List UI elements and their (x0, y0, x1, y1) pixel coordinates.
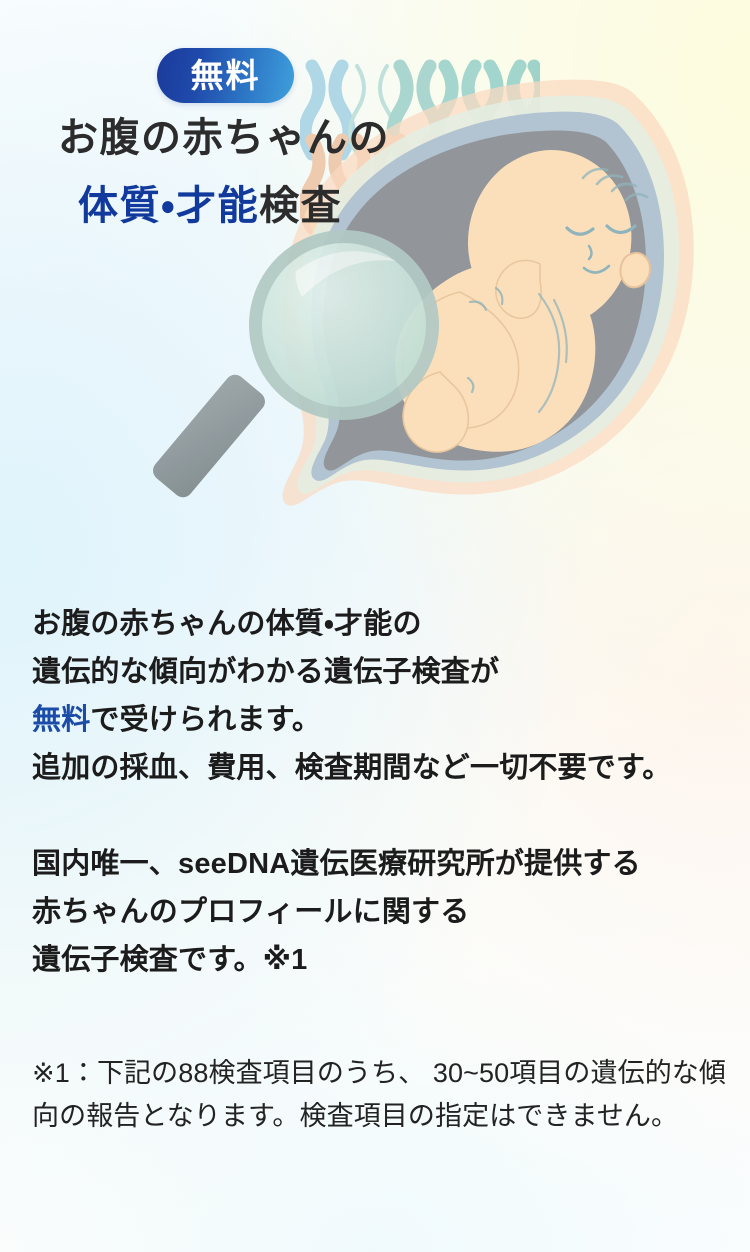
page-root: 無料 お腹の赤ちゃんの 体質・才能検査 お腹の赤ちゃんの体質・才能の 遺伝的な傾… (0, 0, 750, 1252)
page-title-line-1: お腹の赤ちゃんの (58, 118, 750, 158)
paragraph-1-line-1: お腹の赤ちゃんの体質・才能の (32, 600, 732, 648)
body-copy: お腹の赤ちゃんの体質・才能の 遺伝的な傾向がわかる遺伝子検査が 無料で受けられま… (32, 600, 732, 984)
page-title-line-2: 体質・才能検査 (78, 186, 750, 226)
page-title-suffix: 検査 (259, 184, 342, 228)
hero-illustration (0, 0, 750, 560)
page-title: お腹の赤ちゃんの 体質・才能検査 (0, 118, 750, 226)
page-title-accent: 体質・才能 (78, 184, 259, 228)
paragraph-2-line-2: 赤ちゃんのプロフィールに関する (32, 888, 732, 936)
footnote: ※1：下記の88検査項目のうち、 30~50項目の遺伝的な傾向の報告となります。… (32, 1052, 726, 1138)
footnote-text: ※1：下記の88検査項目のうち、 30~50項目の遺伝的な傾向の報告となります。… (32, 1052, 726, 1138)
paragraph-2: 国内唯一、seeDNA遺伝医療研究所が提供する 赤ちゃんのプロフィールに関する … (32, 840, 732, 984)
paragraph-1-line-4: 追加の採血、費用、検査期間など一切不要です。 (32, 744, 732, 792)
paragraph-spacer (32, 792, 732, 840)
paragraph-1-line-2: 遺伝的な傾向がわかる遺伝子検査が (32, 648, 732, 696)
paragraph-2-line-3: 遺伝子検査です。※1 (32, 936, 732, 984)
paragraph-1: お腹の赤ちゃんの体質・才能の 遺伝的な傾向がわかる遺伝子検査が 無料で受けられま… (32, 600, 732, 792)
free-highlight: 無料 (32, 704, 90, 736)
paragraph-1-line-3-rest: で受けられます。 (90, 704, 321, 736)
free-badge-label: 無料 (191, 59, 261, 92)
paragraph-2-line-1: 国内唯一、seeDNA遺伝医療研究所が提供する (32, 840, 732, 888)
paragraph-1-line-3: 無料で受けられます。 (32, 696, 732, 744)
free-badge: 無料 (157, 48, 294, 103)
